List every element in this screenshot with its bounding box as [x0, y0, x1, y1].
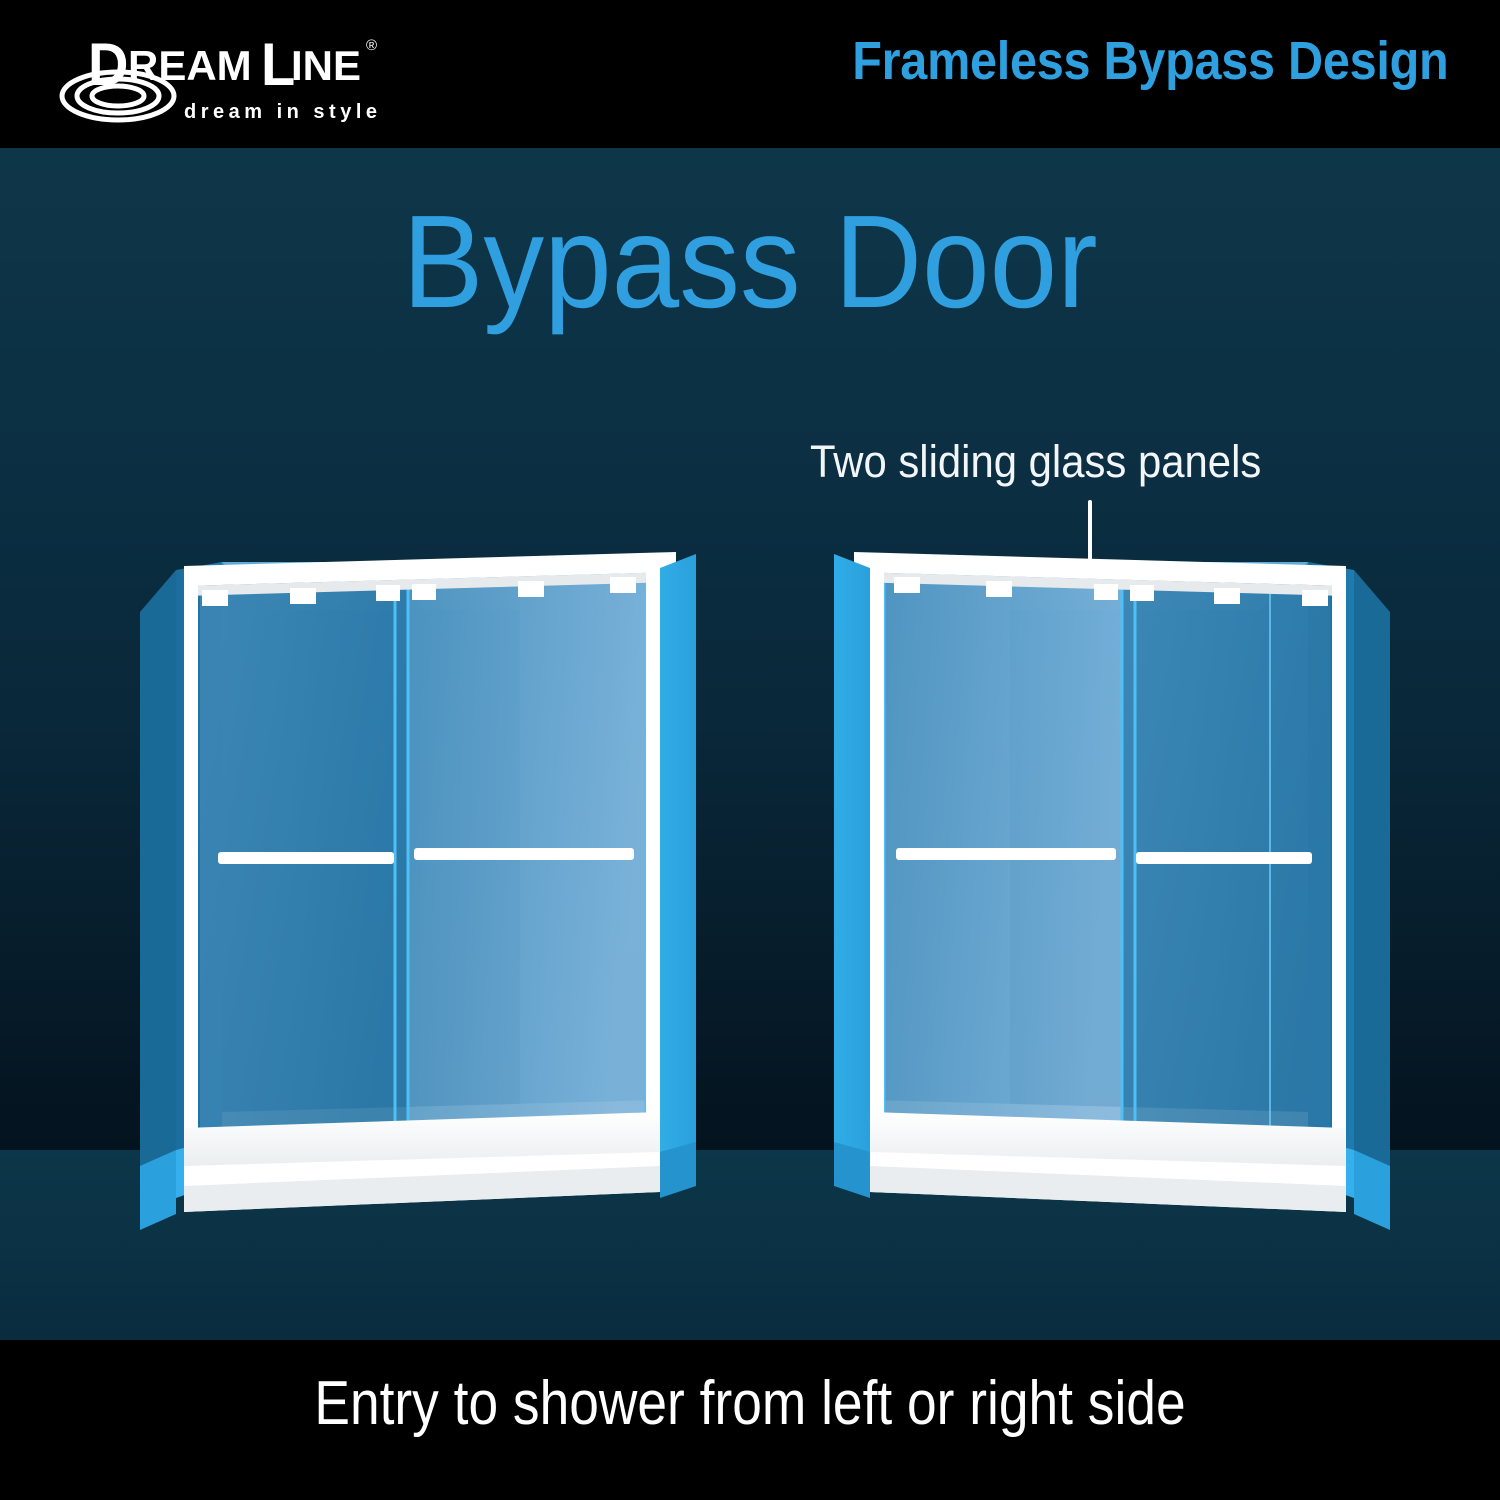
callout-label: Two sliding glass panels — [810, 436, 1368, 488]
footer-bar: Entry to shower from left or right side — [0, 1340, 1500, 1500]
svg-text:INE: INE — [291, 42, 361, 89]
footer-caption: Entry to shower from left or right side — [105, 1368, 1395, 1439]
registered-mark: ® — [366, 37, 377, 54]
scene-background: Bypass Door Two sliding glass panels — [0, 148, 1500, 1340]
image-canvas: Bypass Door Two sliding glass panels — [0, 0, 1500, 1500]
shower-enclosure-right — [830, 552, 1390, 1272]
dreamline-logo[interactable]: D REAM L INE ® dream in style — [56, 18, 476, 128]
svg-text:REAM: REAM — [128, 42, 252, 89]
svg-text:dream in style: dream in style — [184, 101, 382, 123]
shower-enclosure-left — [140, 552, 700, 1272]
header-bar: D REAM L INE ® dream in style Frameless … — [0, 0, 1500, 148]
page-title: Bypass Door — [60, 196, 1440, 328]
header-tagline: Frameless Bypass Design — [852, 30, 1448, 92]
svg-text:D: D — [88, 31, 127, 98]
